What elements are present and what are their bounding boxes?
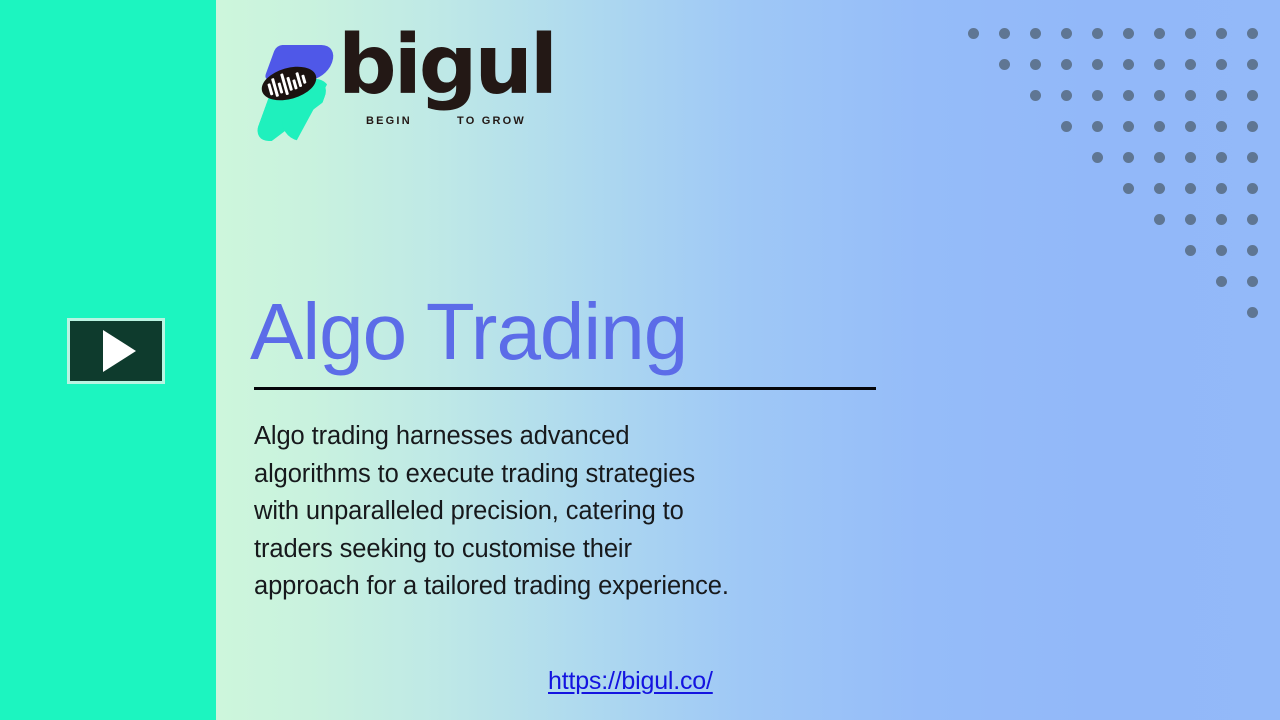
grid-dot	[1185, 152, 1196, 163]
grid-dot	[1216, 121, 1227, 132]
body-line: approach for a tailored trading experien…	[254, 568, 894, 606]
logo-tagline-begin: BEGIN	[366, 115, 412, 127]
grid-dot	[1123, 28, 1134, 39]
logo-tagline-grow: TO GROW	[457, 115, 526, 127]
decorative-dot-grid	[960, 18, 1270, 328]
grid-dot	[1216, 214, 1227, 225]
grid-dot	[1154, 152, 1165, 163]
grid-dot	[1247, 59, 1258, 70]
grid-dot	[1123, 90, 1134, 101]
grid-dot	[1185, 28, 1196, 39]
grid-dot	[1061, 28, 1072, 39]
grid-dot	[1247, 152, 1258, 163]
grid-dot	[968, 28, 979, 39]
grid-dot	[1247, 214, 1258, 225]
grid-dot	[1247, 245, 1258, 256]
grid-dot	[1154, 121, 1165, 132]
play-icon	[103, 330, 136, 372]
grid-dot	[1185, 90, 1196, 101]
grid-dot	[1092, 121, 1103, 132]
body-line: traders seeking to customise their	[254, 531, 894, 569]
candlestick-bar	[301, 74, 306, 83]
grid-dot	[1216, 245, 1227, 256]
grid-dot	[1154, 59, 1165, 70]
body-line: algorithms to execute trading strategies	[254, 456, 894, 494]
grid-dot	[999, 28, 1010, 39]
grid-dot	[1123, 152, 1134, 163]
body-line: Algo trading harnesses advanced	[254, 418, 894, 456]
grid-dot	[1247, 121, 1258, 132]
body-line: with unparalleled precision, catering to	[254, 493, 894, 531]
grid-dot	[1216, 276, 1227, 287]
grid-dot	[1154, 183, 1165, 194]
logo-wordmark: bigul	[338, 25, 555, 107]
grid-dot	[1185, 59, 1196, 70]
grid-dot	[1247, 276, 1258, 287]
play-video-button[interactable]	[67, 318, 165, 384]
grid-dot	[1247, 183, 1258, 194]
website-link[interactable]: https://bigul.co/	[548, 667, 713, 696]
grid-dot	[1247, 90, 1258, 101]
grid-dot	[1216, 152, 1227, 163]
grid-dot	[1216, 90, 1227, 101]
grid-dot	[1030, 59, 1041, 70]
grid-dot	[1061, 90, 1072, 101]
grid-dot	[1154, 28, 1165, 39]
grid-dot	[1185, 214, 1196, 225]
grid-dot	[1185, 183, 1196, 194]
grid-dot	[1123, 183, 1134, 194]
grid-dot	[1123, 59, 1134, 70]
grid-dot	[1154, 214, 1165, 225]
grid-dot	[1030, 28, 1041, 39]
grid-dot	[1154, 90, 1165, 101]
grid-dot	[1092, 59, 1103, 70]
title-divider	[254, 387, 876, 390]
grid-dot	[1061, 121, 1072, 132]
grid-dot	[1216, 28, 1227, 39]
grid-dot	[999, 59, 1010, 70]
grid-dot	[1247, 307, 1258, 318]
grid-dot	[1092, 28, 1103, 39]
brand-logo: bigul BEGIN TO GROW	[254, 27, 554, 142]
bigul-mark-icon	[262, 35, 334, 140]
grid-dot	[1216, 183, 1227, 194]
grid-dot	[1185, 121, 1196, 132]
grid-dot	[1092, 152, 1103, 163]
page-title: Algo Trading	[250, 292, 687, 372]
grid-dot	[1216, 59, 1227, 70]
grid-dot	[1185, 245, 1196, 256]
grid-dot	[1092, 90, 1103, 101]
slide-canvas: bigul BEGIN TO GROW Algo Trading Algo tr…	[0, 0, 1280, 720]
grid-dot	[1030, 90, 1041, 101]
grid-dot	[1247, 28, 1258, 39]
body-paragraph: Algo trading harnesses advancedalgorithm…	[254, 418, 894, 606]
grid-dot	[1061, 59, 1072, 70]
grid-dot	[1123, 121, 1134, 132]
